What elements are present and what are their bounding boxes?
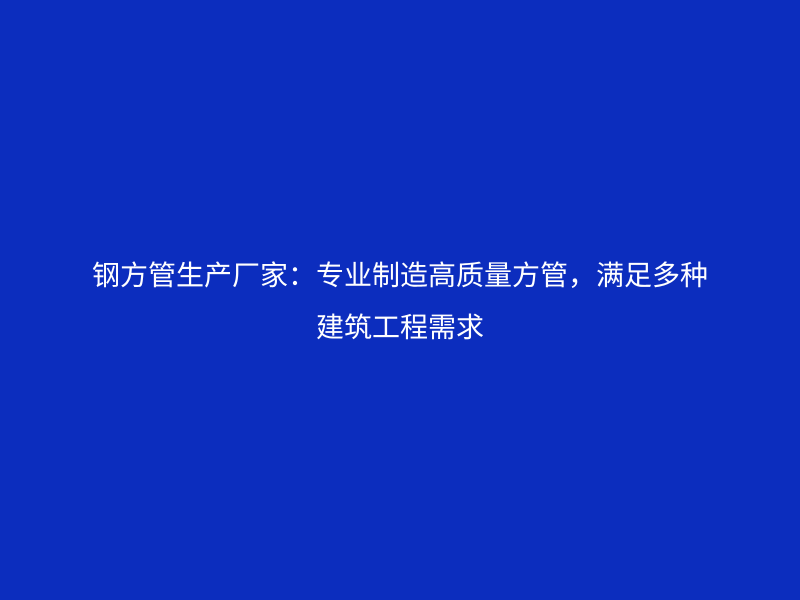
headline-line-1: 钢方管生产厂家：专业制造高质量方管，满足多种 bbox=[52, 250, 748, 302]
title-card: 钢方管生产厂家：专业制造高质量方管，满足多种 建筑工程需求 bbox=[0, 0, 800, 600]
headline-block: 钢方管生产厂家：专业制造高质量方管，满足多种 建筑工程需求 bbox=[0, 250, 800, 354]
headline-line-2: 建筑工程需求 bbox=[52, 302, 748, 354]
